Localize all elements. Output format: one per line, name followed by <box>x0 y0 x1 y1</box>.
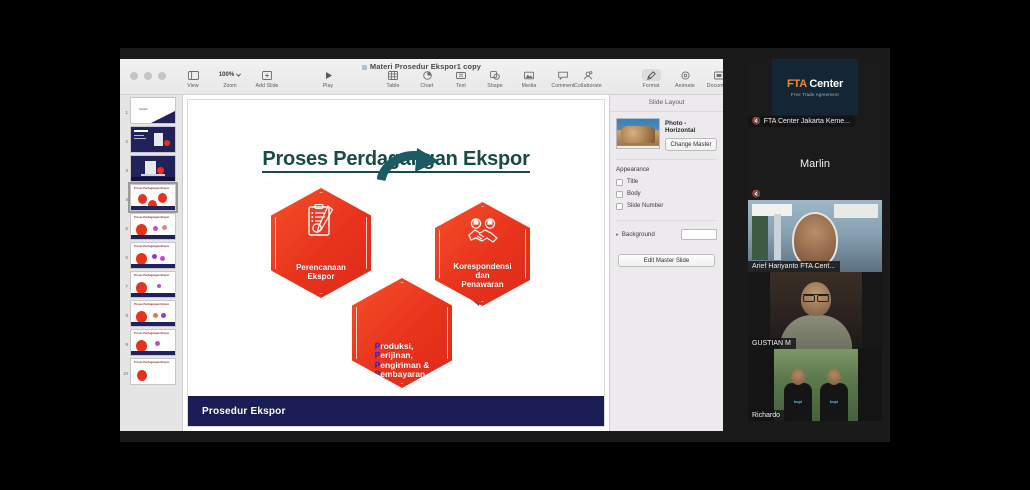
slide-thumbnail-9[interactable]: Proses Perdagangan Ekspor <box>130 329 176 356</box>
fta-logo-accent: FTA <box>787 78 807 90</box>
slide-thumbnail-7[interactable]: Proses Perdagangan Ekspor <box>130 271 176 298</box>
participant-name-badge: Arief Hariyanto FTA Cent... <box>748 261 840 272</box>
participant-face <box>792 212 838 268</box>
slide-thumbnail-6[interactable]: Proses Perdagangan Ekspor <box>130 242 176 269</box>
participant-tile-arief[interactable]: Arief Hariyanto FTA Cent... <box>748 200 882 272</box>
toolbar-insert-group: Table Chart Text <box>376 69 580 89</box>
slide-navigator[interactable]: 1 Contoh 2 <box>120 95 183 431</box>
appearance-slide-number-row[interactable]: Slide Number <box>610 200 723 212</box>
text-button[interactable]: Text <box>444 69 478 89</box>
text-icon <box>456 69 466 81</box>
thumb-title: Proses Perdagangan Ekspor <box>134 361 169 364</box>
zoom-control[interactable]: 100% Zoom <box>210 69 250 89</box>
format-button[interactable]: Format <box>634 69 668 89</box>
participant-name-badge: GUSTIAN M <box>748 338 796 349</box>
slide-number: 3 <box>123 155 128 173</box>
chart-icon <box>423 69 432 81</box>
media-icon <box>524 69 534 81</box>
edit-master-wrap: Edit Master Slide <box>610 240 723 267</box>
thumb-title: Proses Perdagangan Ekspor <box>134 216 169 219</box>
person-left-head <box>791 369 805 385</box>
person-right-head <box>827 369 841 385</box>
slide-number-checkbox[interactable] <box>616 203 623 210</box>
format-brush-icon <box>642 69 661 81</box>
keynote-body: 1 Contoh 2 <box>120 95 723 431</box>
animate-button[interactable]: Animate <box>668 69 702 89</box>
participant-name-badge: Richardo <box>748 410 785 421</box>
thumb-title: Proses Perdagangan Ekspor <box>134 332 169 335</box>
chevron-right-icon[interactable]: ▸ <box>616 232 619 238</box>
appearance-title: Appearance <box>610 160 723 176</box>
participant-name: FTA Center Jakarta Keme... <box>764 118 850 125</box>
document-icon <box>714 69 723 81</box>
add-slide-label: Add Slide <box>255 83 278 89</box>
participant-tile-marlin[interactable]: Marlin 🔇 <box>748 127 882 200</box>
background-monument <box>774 214 781 260</box>
slide-number: 5 <box>123 213 128 231</box>
thumbnail-row[interactable]: 3 <box>120 153 182 182</box>
background-banner-right <box>834 204 878 218</box>
background-row[interactable]: ▸ Background <box>610 223 723 240</box>
fta-center-logo: FTA Center Free Trade Agreement <box>772 59 858 115</box>
shape-icon <box>490 69 500 81</box>
table-icon <box>388 69 398 81</box>
participant-tile-gustian[interactable]: GUSTIAN M <box>748 272 882 349</box>
view-label: View <box>187 83 199 89</box>
keynote-toolbar: View 100% Zoom Add Slide <box>120 69 723 95</box>
slide-number: 8 <box>123 300 128 318</box>
participant-display-name: Marlin <box>800 158 830 170</box>
toolbar-right-group: Format Animate Document <box>634 69 723 89</box>
slide-number: 9 <box>123 329 128 347</box>
step-1-line2: Ekspor <box>296 273 346 282</box>
appearance-body-row[interactable]: Body <box>610 188 723 200</box>
slide-canvas[interactable]: Proses Perdagangan Ekspor <box>183 95 609 431</box>
inspector-header: Slide Layout <box>610 95 723 112</box>
collaborate-icon <box>583 69 593 81</box>
view-panel-icon <box>188 69 199 81</box>
toolbar-play-group: Play <box>311 69 345 89</box>
media-button[interactable]: Media <box>512 69 546 89</box>
animate-icon <box>681 69 690 81</box>
slide-thumbnail-4[interactable]: Proses Perdagangan Ekspor <box>130 184 176 211</box>
toolbar-collaborate-group: Collaborate <box>561 69 615 89</box>
person-left: kopi <box>782 369 814 421</box>
thumbnail-row[interactable]: 8 Proses Perdagangan Ekspor <box>120 298 182 327</box>
view-button[interactable]: View <box>176 69 210 89</box>
thumbnail-row[interactable]: 10 Proses Perdagangan Ekspor <box>120 356 182 385</box>
slide-thumbnail-2[interactable] <box>130 126 176 153</box>
slide-thumbnail-3[interactable] <box>130 155 176 182</box>
slide-number: 6 <box>123 242 128 260</box>
arrow-step1-to-step2-icon <box>377 147 443 187</box>
thumb-title: Proses Perdagangan Ekspor <box>134 245 169 248</box>
slide-4-content: Proses Perdagangan Ekspor <box>188 100 604 426</box>
background-color-swatch[interactable] <box>681 229 717 240</box>
zoom-value-wrap[interactable]: 100% <box>219 69 241 81</box>
title-checkbox-label: Title <box>627 179 638 185</box>
thumbnail-row[interactable]: 7 Proses Perdagangan Ekspor <box>120 269 182 298</box>
inspector-divider <box>616 220 717 221</box>
add-slide-button[interactable]: Add Slide <box>250 69 284 89</box>
body-checkbox-label: Body <box>627 191 641 197</box>
step-3-label: Produksi, Perijinan, Pengiriman & Pembay… <box>375 342 430 388</box>
slide-number: 7 <box>123 271 128 289</box>
slide-thumbnail-1[interactable]: Contoh <box>130 97 176 124</box>
table-label: Table <box>387 83 400 89</box>
master-slide-row: Photo - Horizontal Change Master <box>610 112 723 151</box>
step-1-label: Perencanaan Ekspor <box>296 264 346 298</box>
title-checkbox[interactable] <box>616 179 623 186</box>
slide-footer-text: Prosedur Ekspor <box>188 406 286 417</box>
participant-tile-fta-center[interactable]: FTA Center Free Trade Agreement 🔇 FTA Ce… <box>748 59 882 127</box>
appearance-title-row[interactable]: Title <box>610 176 723 188</box>
thumbnail-row[interactable]: 6 Proses Perdagangan Ekspor <box>120 240 182 269</box>
participant-name: GUSTIAN M <box>752 340 791 347</box>
thumbnail-row[interactable]: 1 Contoh <box>120 95 182 124</box>
document-label: Document <box>707 83 723 89</box>
master-meta: Photo - Horizontal Change Master <box>665 118 717 151</box>
add-slide-icon <box>262 69 272 81</box>
slide-footer-bar: Prosedur Ekspor <box>188 396 604 426</box>
thumbnail-row[interactable]: 5 Proses Perdagangan Ekspor <box>120 211 182 240</box>
glasses-icon <box>803 294 829 299</box>
person-left-shirt-text: kopi <box>794 399 802 404</box>
master-name: Photo - Horizontal <box>665 120 717 134</box>
master-thumbnail[interactable] <box>616 118 660 149</box>
table-button[interactable]: Table <box>376 69 410 89</box>
thumb-title: Proses Perdagangan Ekspor <box>134 303 169 306</box>
format-label: Format <box>642 83 659 89</box>
window-titlebar: Materi Prosedur Ekspor1 copy View 100% <box>120 59 723 95</box>
fta-logo-rest: Center <box>807 78 844 90</box>
step-3-line4: Pembayaran. <box>375 370 430 380</box>
collaborate-button[interactable]: Collaborate <box>561 69 615 89</box>
screenshot-root: Materi Prosedur Ekspor1 copy View 100% <box>0 0 1030 490</box>
slide-number: 4 <box>123 184 128 202</box>
clipboard-checklist-icon <box>306 204 336 243</box>
muted-mic-icon: 🔇 <box>752 118 761 125</box>
collaborate-label: Collaborate <box>574 83 602 89</box>
muted-mic-icon: 🔇 <box>752 191 761 198</box>
thumbnail-row[interactable]: 9 Proses Perdagangan Ekspor <box>120 327 182 356</box>
person-right: kopi <box>818 369 850 421</box>
text-label: Text <box>456 83 466 89</box>
slide-number: 1 <box>123 97 128 115</box>
step-2-line3: Penawaran <box>453 281 511 290</box>
fta-logo-subtitle: Free Trade Agreement <box>791 92 839 97</box>
participant-name-badge: 🔇 <box>748 189 766 200</box>
step-3-line4-rest: embayaran. <box>380 369 427 379</box>
participant-tile-richardo[interactable]: kopi kopi Richardo <box>748 349 882 421</box>
slide-number: 2 <box>123 126 128 144</box>
format-inspector: Slide Layout Photo - Horizontal Change M… <box>609 95 723 431</box>
step-3-line2-rest: erijinan, <box>380 350 413 360</box>
document-button[interactable]: Document <box>702 69 723 89</box>
participant-name: Arief Hariyanto FTA Cent... <box>752 263 835 270</box>
colosseum-photo-icon <box>621 126 655 143</box>
body-checkbox[interactable] <box>616 191 623 198</box>
slide-thumbnail-8[interactable]: Proses Perdagangan Ekspor <box>130 300 176 327</box>
participant-photo: kopi kopi <box>774 349 858 421</box>
media-label: Media <box>522 83 537 89</box>
toolbar-left-group: View 100% Zoom Add Slide <box>176 69 284 89</box>
thumb-title: Proses Perdagangan Ekspor <box>134 187 169 190</box>
play-button[interactable]: Play <box>311 69 345 89</box>
background-label: Background <box>622 231 678 238</box>
play-label: Play <box>323 83 334 89</box>
edit-master-slide-button[interactable]: Edit Master Slide <box>618 254 715 267</box>
background-banner-left <box>752 204 792 216</box>
thumbnail-row[interactable]: 4 Proses Perdagangan Ekspor <box>120 182 182 211</box>
chart-label: Chart <box>420 83 433 89</box>
change-master-button[interactable]: Change Master <box>665 138 717 151</box>
slide-thumbnail-5[interactable]: Proses Perdagangan Ekspor <box>130 213 176 240</box>
participant-strip: FTA Center Free Trade Agreement 🔇 FTA Ce… <box>748 59 882 421</box>
play-icon <box>324 69 333 81</box>
zoom-label: Zoom <box>223 83 236 89</box>
shape-label: Shape <box>487 83 503 89</box>
animate-label: Animate <box>675 83 695 89</box>
keynote-window: Materi Prosedur Ekspor1 copy View 100% <box>120 59 723 431</box>
slide-surface[interactable]: Proses Perdagangan Ekspor <box>187 99 605 427</box>
step-1-hexagon[interactable]: Perencanaan Ekspor <box>271 188 371 298</box>
fta-logo-main: FTA Center <box>787 78 843 90</box>
thumb-title: Proses Perdagangan Ekspor <box>134 274 169 277</box>
handshake-icon <box>466 218 500 249</box>
zoom-value: 100% <box>219 72 234 78</box>
participant-name-badge: 🔇 FTA Center Jakarta Keme... <box>748 116 855 127</box>
shape-button[interactable]: Shape <box>478 69 512 89</box>
thumbnail-row[interactable]: 2 <box>120 124 182 153</box>
slide-number-checkbox-label: Slide Number <box>627 203 663 209</box>
step-3-hexagon[interactable]: Produksi, Perijinan, Pengiriman & Pembay… <box>352 278 452 388</box>
slide-number: 10 <box>123 358 128 376</box>
participant-name: Richardo <box>752 412 780 419</box>
slide-thumbnail-10[interactable]: Proses Perdagangan Ekspor <box>130 358 176 385</box>
person-right-shirt-text: kopi <box>830 399 838 404</box>
chevron-down-icon <box>236 73 241 77</box>
chart-button[interactable]: Chart <box>410 69 444 89</box>
